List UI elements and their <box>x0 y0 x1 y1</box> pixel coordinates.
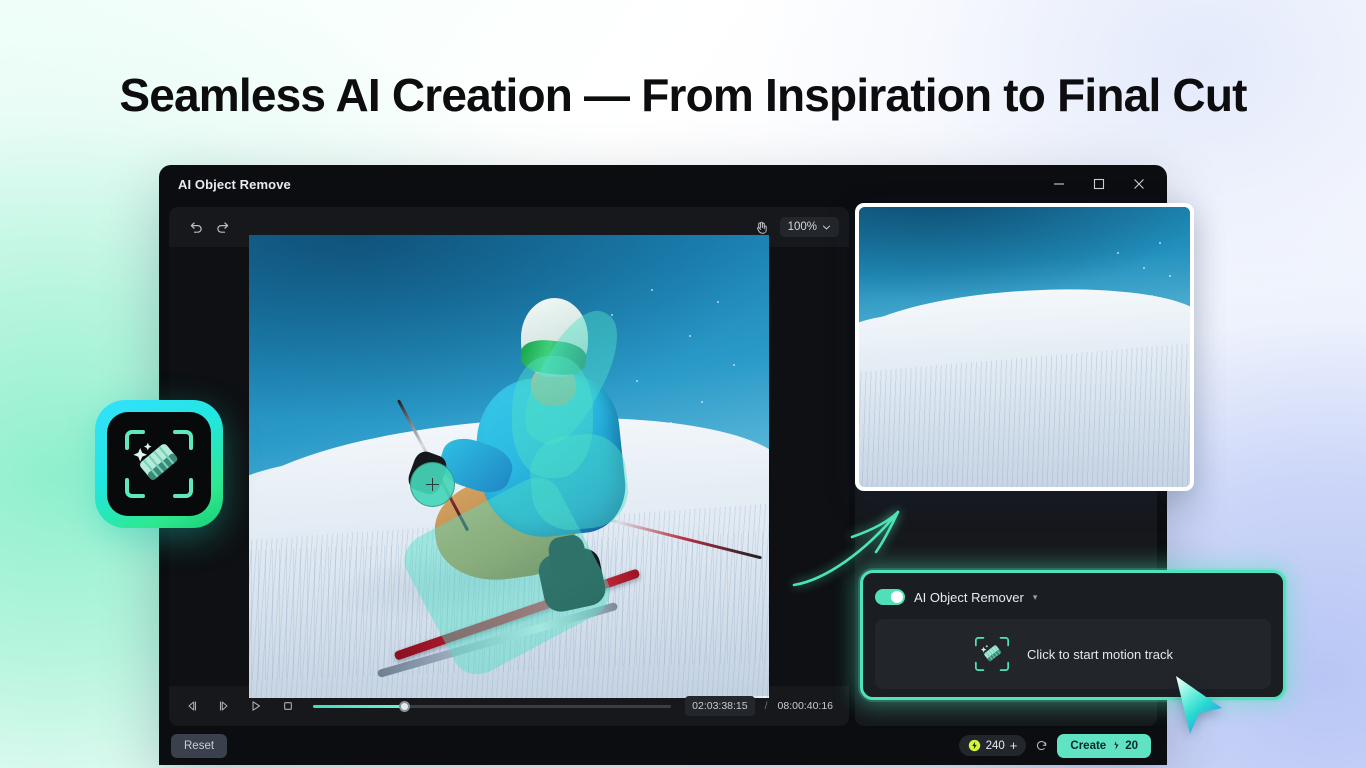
app-icon-inner <box>107 412 211 516</box>
motion-track-eraser-icon <box>973 635 1011 673</box>
start-motion-track-button[interactable]: Click to start motion track <box>875 619 1271 689</box>
chevron-down-icon[interactable]: ▾ <box>1033 592 1038 603</box>
result-preview-image <box>859 207 1190 487</box>
playback-bar: 02:03:38:15 / 08:00:40:16 <box>169 686 849 726</box>
title-bar: AI Object Remove <box>159 165 1167 203</box>
skier-subject <box>426 291 665 652</box>
undo-icon[interactable] <box>181 213 209 241</box>
window-controls <box>1039 165 1159 203</box>
next-frame-icon[interactable] <box>213 695 235 717</box>
play-icon[interactable] <box>245 695 267 717</box>
brush-cursor[interactable] <box>410 462 455 507</box>
ai-object-remover-toggle[interactable] <box>875 589 905 605</box>
prev-frame-icon[interactable] <box>181 695 203 717</box>
reset-button[interactable]: Reset <box>171 734 227 758</box>
result-preview-card[interactable] <box>855 203 1194 491</box>
ai-object-remove-app-icon <box>95 400 223 528</box>
refresh-icon[interactable] <box>1035 739 1048 752</box>
ai-panel-title: AI Object Remover <box>914 590 1024 605</box>
close-icon[interactable] <box>1119 169 1159 199</box>
credits-badge[interactable]: 240 + <box>959 735 1027 756</box>
create-label: Create <box>1070 740 1106 752</box>
credit-count: 240 <box>986 740 1005 752</box>
bottom-bar-right: 240 + Create 20 <box>959 734 1151 758</box>
zoom-level-select[interactable]: 100% <box>780 217 839 237</box>
maximize-icon[interactable] <box>1079 169 1119 199</box>
credit-coin-icon <box>968 739 981 752</box>
add-credits-icon[interactable]: + <box>1010 739 1018 752</box>
app-icon-eraser-glyph <box>119 424 199 504</box>
canvas-area[interactable] <box>169 247 849 686</box>
minimize-icon[interactable] <box>1039 169 1079 199</box>
timecode-separator: / <box>765 700 768 712</box>
editor-left-pane: 100% <box>169 207 849 726</box>
window-title: AI Object Remove <box>178 177 291 192</box>
timeline-scrubber[interactable] <box>313 696 671 716</box>
zoom-level-value: 100% <box>788 221 817 233</box>
total-timecode: 08:00:40:16 <box>778 700 837 712</box>
create-button[interactable]: Create 20 <box>1057 734 1151 758</box>
bottom-bar: Reset 240 + Create <box>159 726 1167 765</box>
stop-icon[interactable] <box>277 695 299 717</box>
current-timecode: 02:03:38:15 <box>685 696 754 716</box>
scrubber-fill <box>313 705 404 708</box>
page-headline: Seamless AI Creation — From Inspiration … <box>0 68 1366 122</box>
ai-object-remover-panel: AI Object Remover ▾ Click to start motio… <box>860 570 1286 700</box>
create-cost: 20 <box>1125 740 1138 752</box>
chevron-down-icon <box>822 223 831 232</box>
motion-track-label: Click to start motion track <box>1027 647 1173 662</box>
ai-panel-header: AI Object Remover ▾ <box>875 583 1271 611</box>
video-canvas[interactable] <box>249 235 769 698</box>
scrubber-knob[interactable] <box>399 701 410 712</box>
redo-icon[interactable] <box>209 213 237 241</box>
spark-icon <box>1110 740 1121 751</box>
